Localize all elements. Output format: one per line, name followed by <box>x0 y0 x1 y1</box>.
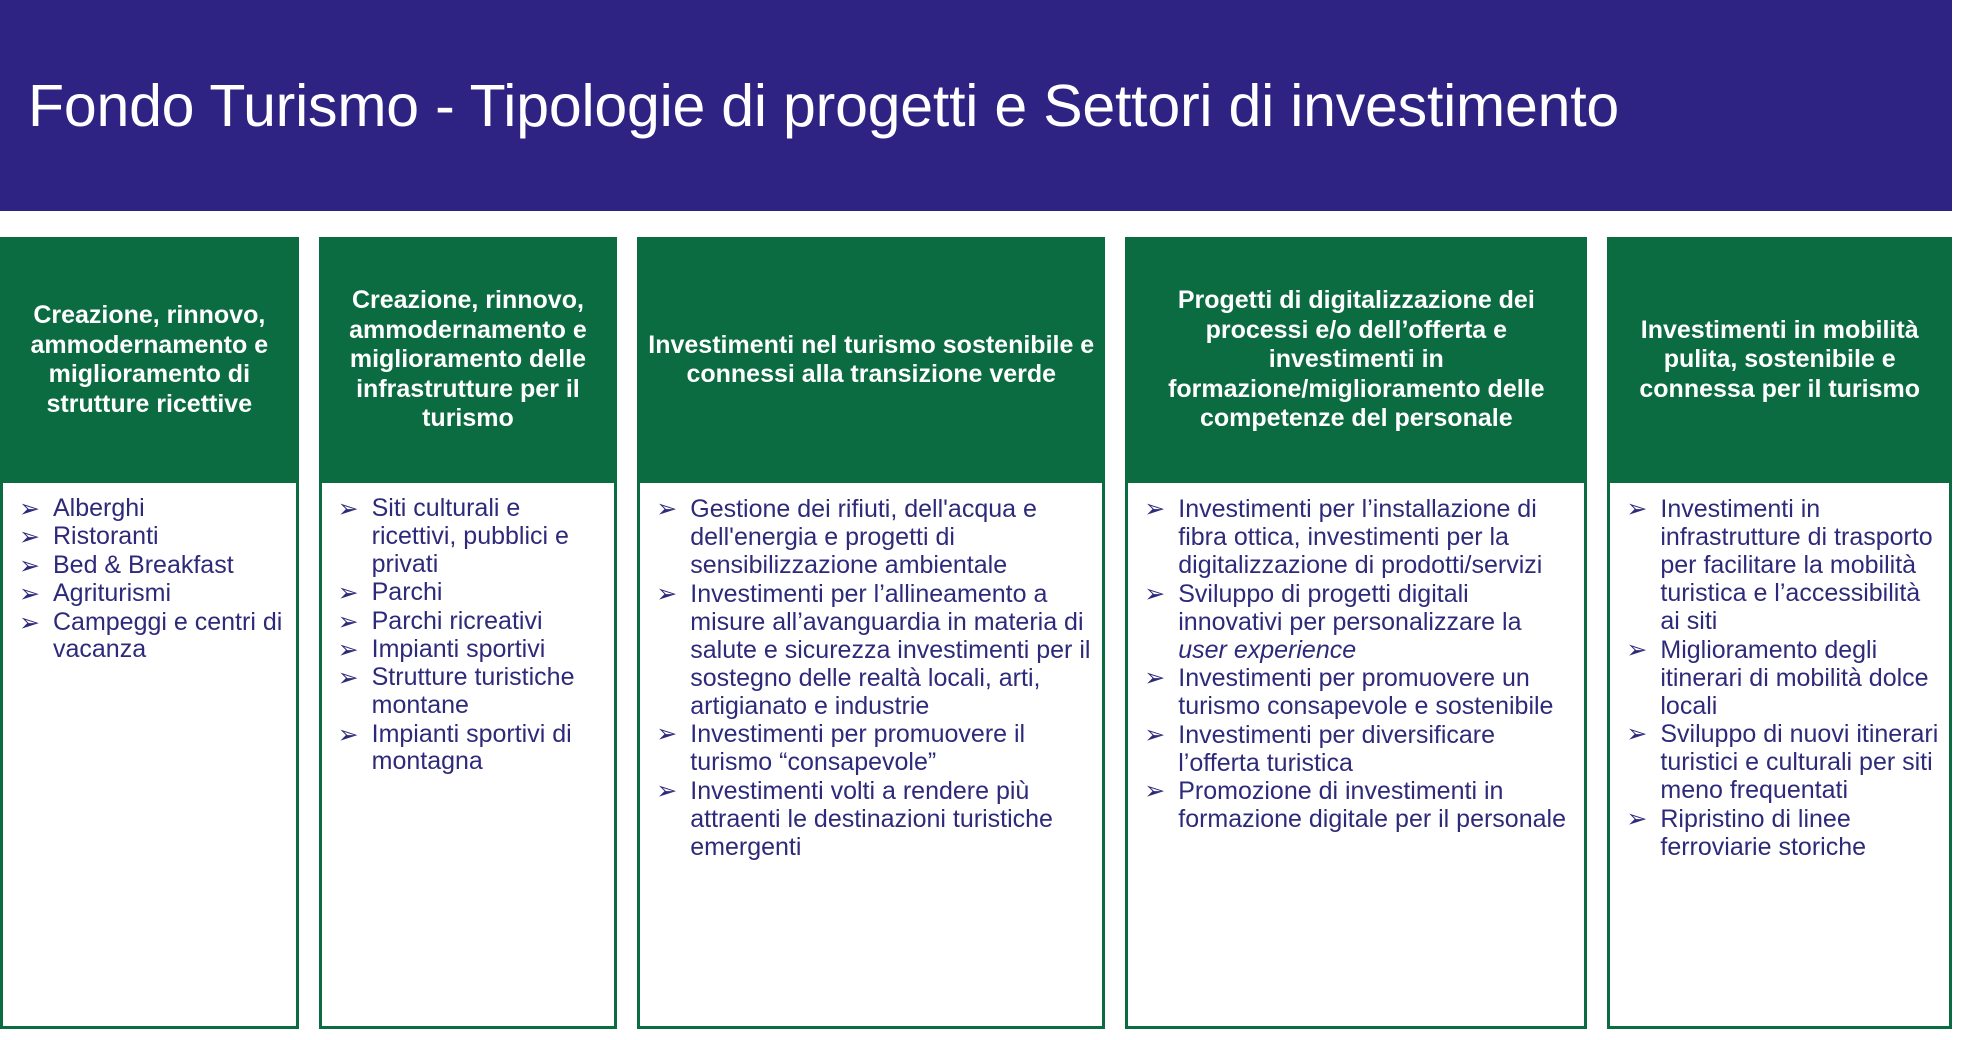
list-item-text: Strutture turistiche montane <box>372 663 575 719</box>
arrow-bullet-icon: ➢ <box>338 665 364 691</box>
arrow-bullet-icon: ➢ <box>1626 806 1652 832</box>
list-item-text: Bed & Breakfast <box>53 551 234 579</box>
bullet-list-4: ➢Investimenti in infrastrutture di trasp… <box>1618 495 1941 861</box>
list-item: ➢Parchi <box>330 579 607 607</box>
column-body-1: ➢Siti culturali e ricettivi, pubblici e … <box>319 483 618 1029</box>
arrow-bullet-icon: ➢ <box>656 778 682 804</box>
list-item: ➢Investimenti per promuovere un turismo … <box>1136 664 1576 720</box>
list-item: ➢Agriturismi <box>11 580 288 608</box>
list-item: ➢Sviluppo di nuovi itinerari turistici e… <box>1618 720 1941 804</box>
arrow-bullet-icon: ➢ <box>1144 778 1170 804</box>
list-item-text: Ripristino di linee ferroviarie storiche <box>1660 805 1866 861</box>
column-header-2-text: Investimenti nel turismo sostenibile e c… <box>647 331 1095 390</box>
arrow-bullet-icon: ➢ <box>338 496 364 522</box>
arrow-bullet-icon: ➢ <box>1626 721 1652 747</box>
list-item: ➢Investimenti per l’installazione di fib… <box>1136 495 1576 579</box>
arrow-bullet-icon: ➢ <box>1144 665 1170 691</box>
arrow-bullet-icon: ➢ <box>656 581 682 607</box>
list-item: ➢Ristoranti <box>11 523 288 551</box>
column-body-4: ➢Investimenti in infrastrutture di trasp… <box>1607 483 1952 1029</box>
column-header-2: Investimenti nel turismo sostenibile e c… <box>637 237 1105 483</box>
list-item: ➢Investimenti per promuovere il turismo … <box>648 720 1094 776</box>
list-item-text: Agriturismi <box>53 579 171 607</box>
bullet-list-1: ➢Siti culturali e ricettivi, pubblici e … <box>330 495 607 776</box>
arrow-bullet-icon: ➢ <box>19 581 45 607</box>
list-item-text: Investimenti per diversificare l’offerta… <box>1178 721 1495 777</box>
list-item-text: Ristoranti <box>53 522 159 550</box>
arrow-bullet-icon: ➢ <box>1626 496 1652 522</box>
bullet-list-3: ➢Investimenti per l’installazione di fib… <box>1136 495 1576 833</box>
column-mobilita-pulita: Investimenti in mobilità pulita, sosteni… <box>1607 237 1952 1029</box>
list-item: ➢Bed & Breakfast <box>11 552 288 580</box>
list-item: ➢Parchi ricreativi <box>330 608 607 636</box>
column-infrastrutture-turismo: Creazione, rinnovo, ammodernamento e mig… <box>319 237 618 1029</box>
arrow-bullet-icon: ➢ <box>1144 722 1170 748</box>
list-item-text: Impianti sportivi <box>372 635 546 663</box>
list-item-text: Miglioramento degli itinerari di mobilit… <box>1660 636 1928 720</box>
list-item: ➢Investimenti per l’allineamento a misur… <box>648 580 1094 720</box>
list-item-text: Investimenti in infrastrutture di traspo… <box>1660 495 1932 635</box>
list-item: ➢Siti culturali e ricettivi, pubblici e … <box>330 495 607 579</box>
list-item: ➢Miglioramento degli itinerari di mobili… <box>1618 636 1941 720</box>
list-item-text: Promozione di investimenti in formazione… <box>1178 777 1566 833</box>
column-header-0-text: Creazione, rinnovo, ammodernamento e mig… <box>10 301 289 419</box>
list-item-text: Investimenti per promuovere un turismo c… <box>1178 664 1553 720</box>
list-item: ➢Sviluppo di progetti digitali innovativ… <box>1136 580 1576 664</box>
arrow-bullet-icon: ➢ <box>656 496 682 522</box>
arrow-bullet-icon: ➢ <box>1144 496 1170 522</box>
column-body-2: ➢Gestione dei rifiuti, dell'acqua e dell… <box>637 483 1105 1029</box>
column-header-3-text: Progetti di digitalizzazione dei process… <box>1135 286 1577 434</box>
list-item: ➢Promozione di investimenti in formazion… <box>1136 777 1576 833</box>
page-title: Fondo Turismo - Tipologie di progetti e … <box>0 72 1619 140</box>
arrow-bullet-icon: ➢ <box>1144 581 1170 607</box>
list-item: ➢Campeggi e centri di vacanza <box>11 609 288 665</box>
column-header-3: Progetti di digitalizzazione dei process… <box>1125 237 1587 483</box>
list-item-text: Sviluppo di progetti digitali innovativi… <box>1178 580 1521 664</box>
column-header-4: Investimenti in mobilità pulita, sosteni… <box>1607 237 1952 483</box>
column-body-3: ➢Investimenti per l’installazione di fib… <box>1125 483 1587 1029</box>
arrow-bullet-icon: ➢ <box>338 580 364 606</box>
list-item-text: Sviluppo di nuovi itinerari turistici e … <box>1660 720 1938 804</box>
list-item: ➢Impianti sportivi <box>330 636 607 664</box>
list-item: ➢Alberghi <box>11 495 288 523</box>
list-item: ➢Impianti sportivi di montagna <box>330 721 607 777</box>
list-item-text: Parchi ricreativi <box>372 607 543 635</box>
arrow-bullet-icon: ➢ <box>1626 637 1652 663</box>
list-item-text: Parchi <box>372 578 443 606</box>
column-header-1: Creazione, rinnovo, ammodernamento e mig… <box>319 237 618 483</box>
column-turismo-sostenibile: Investimenti nel turismo sostenibile e c… <box>637 237 1105 1029</box>
list-item: ➢Investimenti in infrastrutture di trasp… <box>1618 495 1941 635</box>
columns-container: Creazione, rinnovo, ammodernamento e mig… <box>0 237 1952 1029</box>
column-digitalizzazione: Progetti di digitalizzazione dei process… <box>1125 237 1587 1029</box>
list-item-text: Alberghi <box>53 494 145 522</box>
column-header-4-text: Investimenti in mobilità pulita, sosteni… <box>1617 316 1942 405</box>
list-item: ➢Investimenti volti a rendere più attrae… <box>648 777 1094 861</box>
column-body-0: ➢Alberghi ➢Ristoranti ➢Bed & Breakfast ➢… <box>0 483 299 1029</box>
list-item-text: Investimenti per l’allineamento a misure… <box>690 580 1090 720</box>
list-item-text: Investimenti per l’installazione di fibr… <box>1178 495 1542 579</box>
list-item: ➢Investimenti per diversificare l’offert… <box>1136 721 1576 777</box>
slide-root: Fondo Turismo - Tipologie di progetti e … <box>0 0 1980 1040</box>
arrow-bullet-icon: ➢ <box>338 637 364 663</box>
column-header-1-text: Creazione, rinnovo, ammodernamento e mig… <box>329 286 608 434</box>
list-item-text: Siti culturali e ricettivi, pubblici e p… <box>372 494 569 578</box>
arrow-bullet-icon: ➢ <box>338 609 364 635</box>
list-item-text: Investimenti volti a rendere più attraen… <box>690 777 1053 861</box>
list-item: ➢Gestione dei rifiuti, dell'acqua e dell… <box>648 495 1094 579</box>
arrow-bullet-icon: ➢ <box>656 721 682 747</box>
bullet-list-2: ➢Gestione dei rifiuti, dell'acqua e dell… <box>648 495 1094 861</box>
arrow-bullet-icon: ➢ <box>19 553 45 579</box>
list-item-text: Impianti sportivi di montagna <box>372 720 572 776</box>
arrow-bullet-icon: ➢ <box>19 496 45 522</box>
arrow-bullet-icon: ➢ <box>19 524 45 550</box>
arrow-bullet-icon: ➢ <box>338 722 364 748</box>
list-item-text: Investimenti per promuovere il turismo “… <box>690 720 1025 776</box>
list-item-text: Campeggi e centri di vacanza <box>53 608 282 664</box>
list-item-text: Gestione dei rifiuti, dell'acqua e dell'… <box>690 495 1037 579</box>
column-strutture-ricettive: Creazione, rinnovo, ammodernamento e mig… <box>0 237 299 1029</box>
arrow-bullet-icon: ➢ <box>19 610 45 636</box>
list-item: ➢Ripristino di linee ferroviarie storich… <box>1618 805 1941 861</box>
column-header-0: Creazione, rinnovo, ammodernamento e mig… <box>0 237 299 483</box>
list-item: ➢Strutture turistiche montane <box>330 664 607 720</box>
bullet-list-0: ➢Alberghi ➢Ristoranti ➢Bed & Breakfast ➢… <box>11 495 288 664</box>
title-band: Fondo Turismo - Tipologie di progetti e … <box>0 0 1952 211</box>
